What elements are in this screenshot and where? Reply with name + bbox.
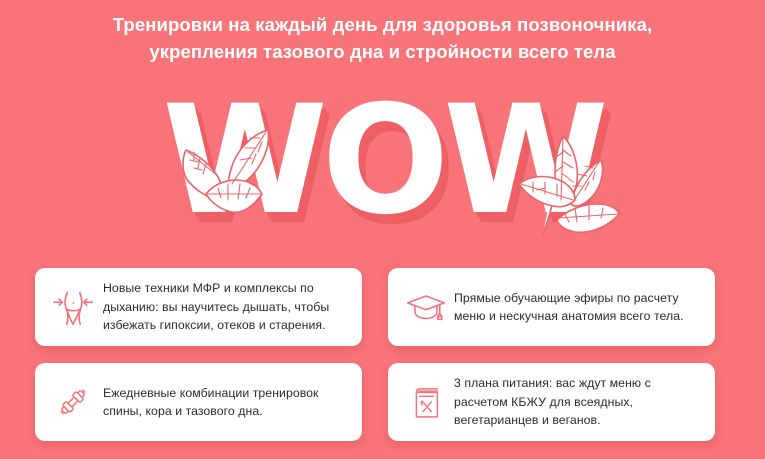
logo-area: WOW	[0, 82, 765, 252]
leaf-branch-icon	[166, 98, 286, 228]
headline-line-1: Тренировки на каждый день для здоровья п…	[0, 11, 765, 38]
feature-card[interactable]: Ежедневные комбинации тренировок спины, …	[35, 363, 362, 441]
graduation-cap-icon	[400, 281, 452, 333]
feature-card[interactable]: Новые техники МФР и комплексы по дыханию…	[35, 268, 362, 346]
feature-card-text: Прямые обучающие эфиры по расчету меню и…	[452, 289, 701, 326]
leaf-branch-icon	[497, 112, 637, 247]
slim-waist-icon	[47, 281, 99, 333]
feature-card[interactable]: 3 плана питания: вас ждут меню с расчето…	[388, 363, 715, 441]
page-title: Тренировки на каждый день для здоровья п…	[0, 11, 765, 65]
dumbbell-icon	[47, 376, 99, 428]
promo-banner: Тренировки на каждый день для здоровья п…	[0, 0, 765, 459]
feature-card[interactable]: Прямые обучающие эфиры по расчету меню и…	[388, 268, 715, 346]
feature-card-text: Новые техники МФР и комплексы по дыханию…	[99, 279, 348, 335]
recipe-book-icon	[400, 376, 452, 428]
wow-logo-text: WOW	[0, 82, 765, 240]
feature-card-list: Новые техники МФР и комплексы по дыханию…	[35, 268, 732, 441]
headline-line-2: укрепления тазового дна и стройности все…	[0, 38, 765, 65]
feature-card-text: Ежедневные комбинации тренировок спины, …	[99, 384, 348, 421]
feature-card-text: 3 плана питания: вас ждут меню с расчето…	[452, 374, 701, 430]
